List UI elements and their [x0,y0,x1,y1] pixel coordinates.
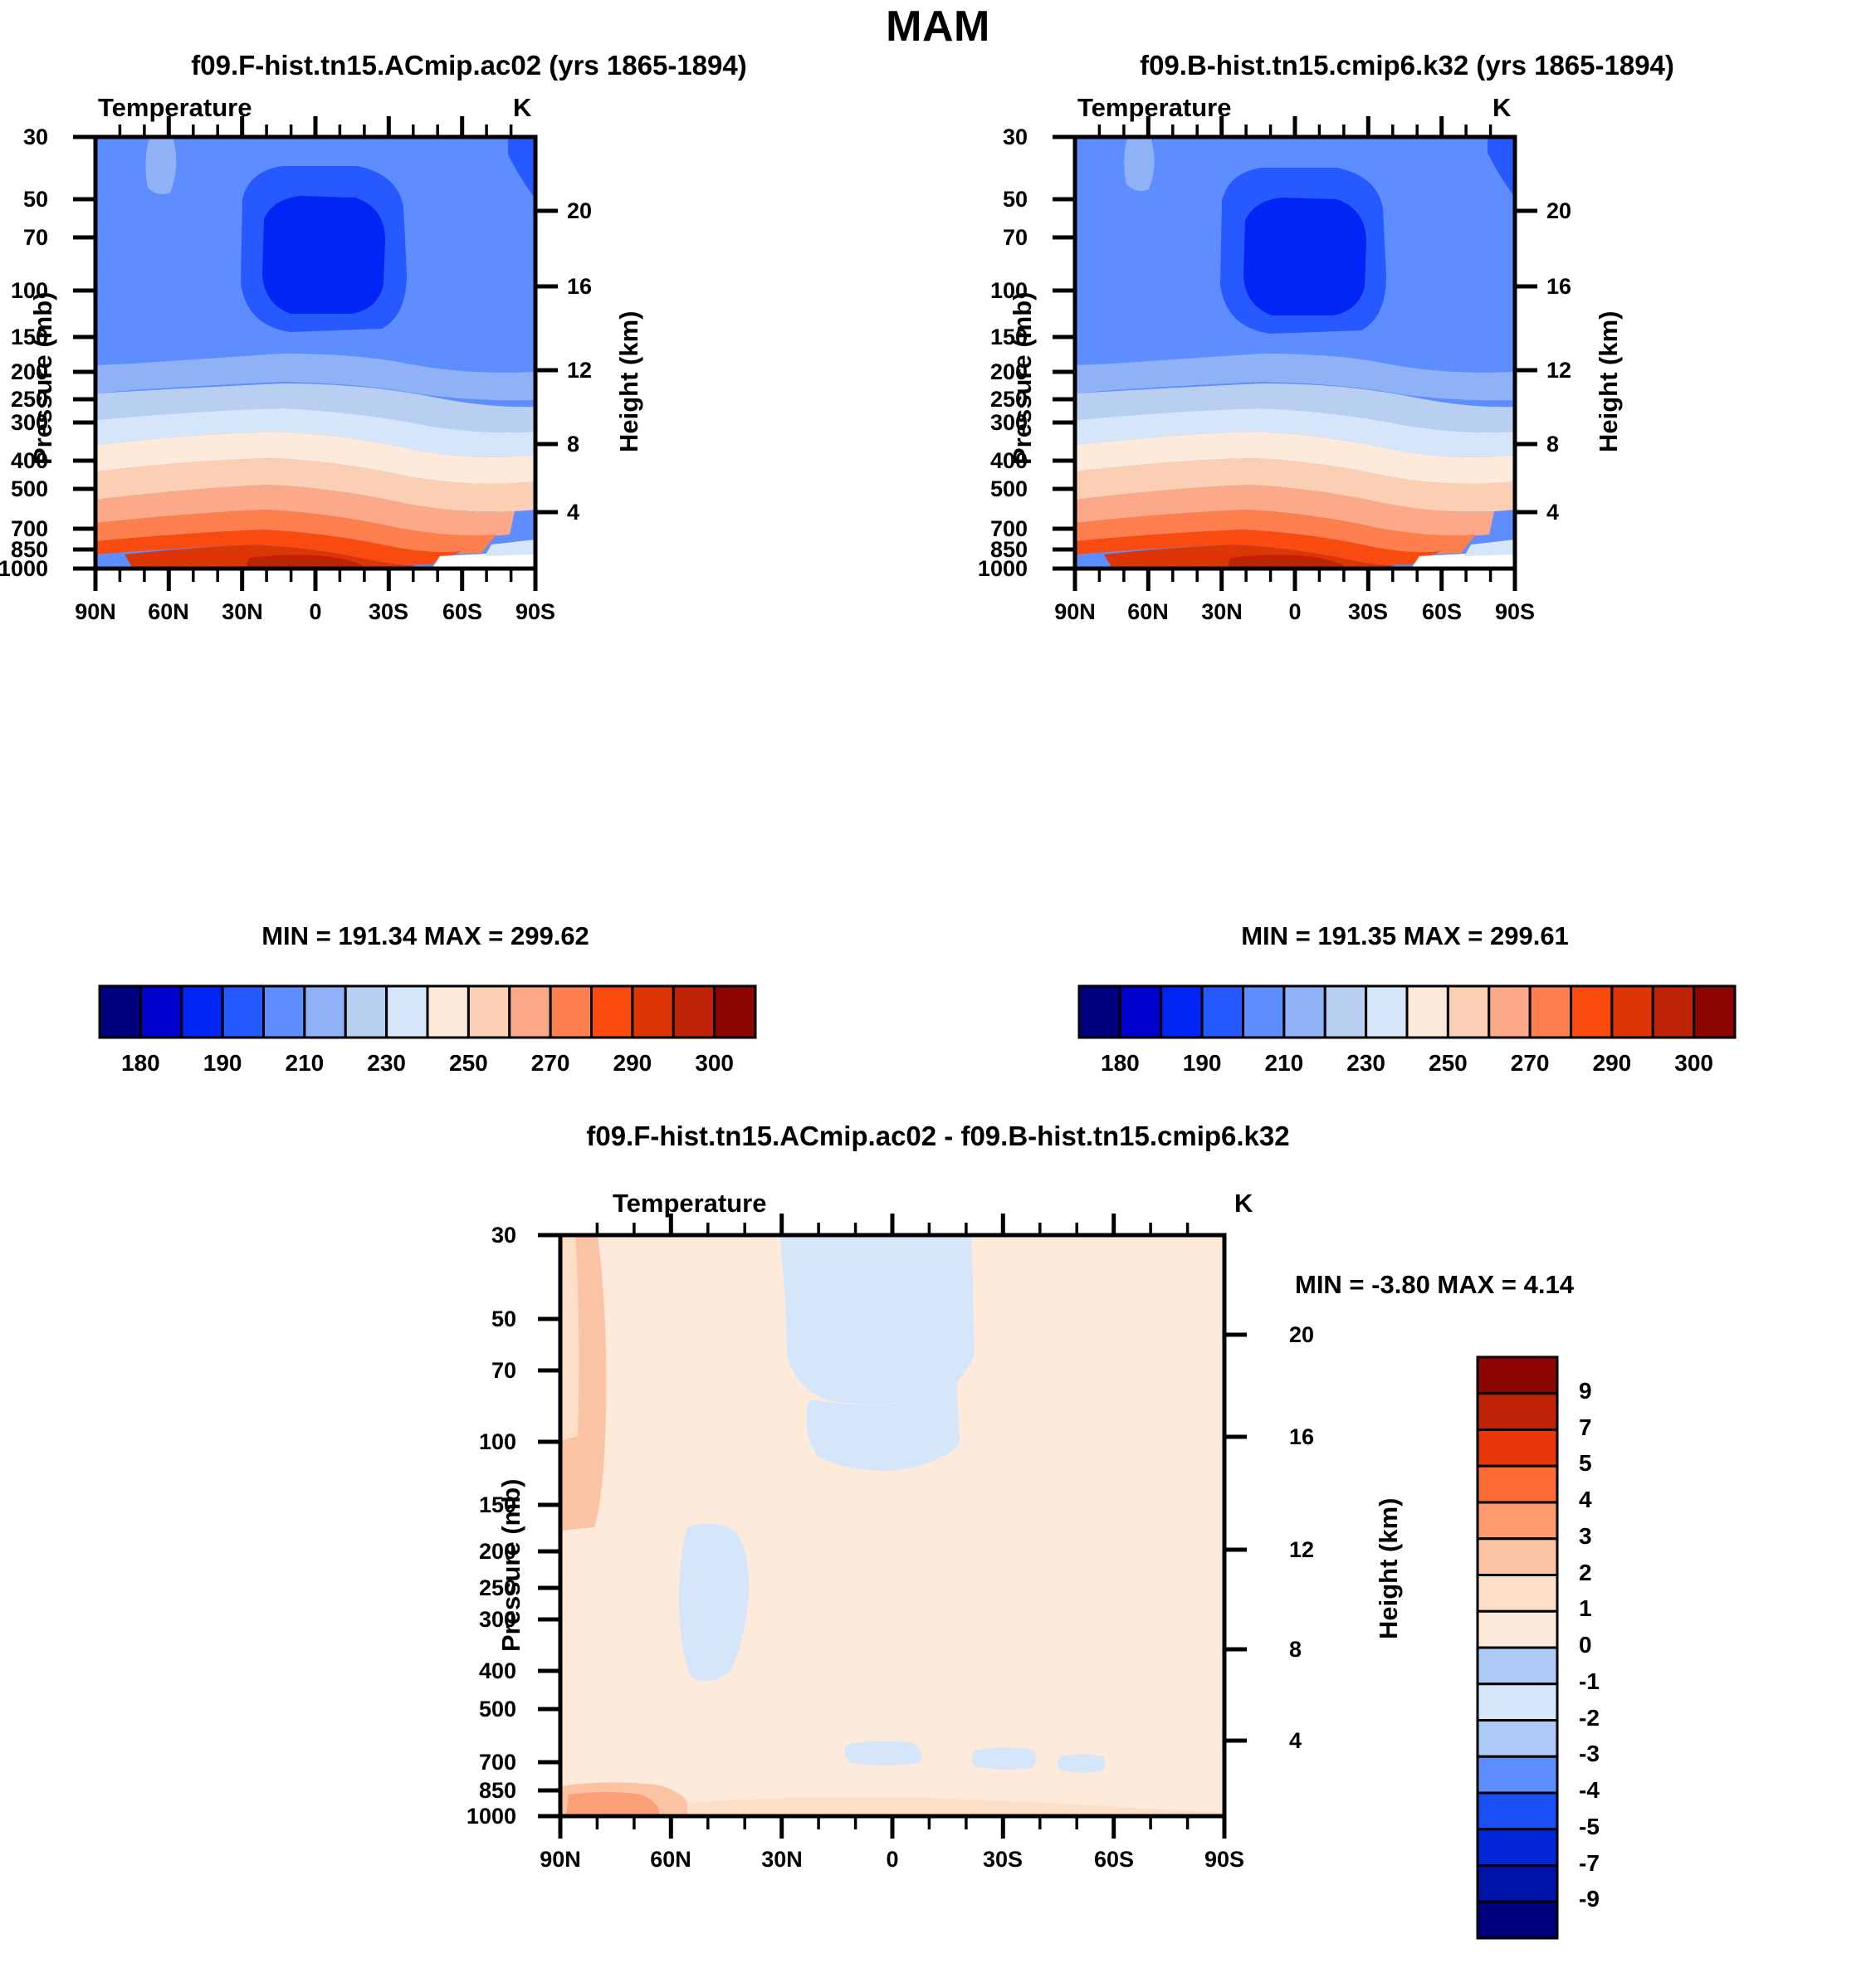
colorbar-swatch [1612,986,1653,1038]
panel-left-plot[interactable] [0,0,938,930]
colorbar-swatch [387,986,427,1038]
colorbar-swatch [1202,986,1243,1038]
colorbar-swatch [1478,1866,1557,1902]
panel-right-xticks-top [1099,116,1490,137]
colorbar-swatch [1478,1430,1557,1467]
colorbar-tick-label: 180 [1101,1050,1140,1077]
panel-right-yticks [1053,137,1075,569]
panel-diff-contour-fill [560,1235,1224,1816]
colorbar-tick-label: -4 [1579,1777,1600,1804]
colorbar-swatch [264,986,305,1038]
colorbar-swatch [510,986,550,1038]
colorbar-tick-label: 290 [613,1050,652,1077]
colorbar-swatch [1120,986,1160,1038]
colorbar-swatch [1478,1466,1557,1502]
colorbar-swatch [1478,1357,1557,1394]
panel-left-xticks-top [120,116,511,137]
colorbar-swatch [100,986,140,1038]
colorbar-tick-label: 2 [1579,1560,1592,1586]
colorbar-swatch [1478,1756,1557,1793]
colorbar-swatch [1478,1684,1557,1721]
colorbar-swatch [1243,986,1284,1038]
colorbar-swatch [715,986,755,1038]
colorbar-tick-label: 290 [1593,1050,1632,1077]
colorbar-swatch [1448,986,1488,1038]
colorbar-tick-label: 7 [1579,1414,1592,1441]
panel-left-xticks [95,569,535,591]
colorbar-tick-label: 190 [203,1050,242,1077]
colorbar-tick-label: -3 [1579,1741,1600,1767]
colorbar-swatch [305,986,345,1038]
colorbar-tick-label: 230 [1346,1050,1385,1077]
colorbar-swatch [633,986,673,1038]
colorbar-swatch [1325,986,1365,1038]
colorbar-tick-label: 0 [1579,1632,1592,1658]
colorbar-absolute-right[interactable] [980,971,1859,1054]
colorbar-tick-label: 270 [531,1050,570,1077]
panel-right-plot[interactable] [980,0,1876,930]
colorbar-swatch [1478,1829,1557,1866]
colorbar-swatch [1478,1502,1557,1539]
colorbar-swatch [427,986,468,1038]
colorbar-tick-label: 1 [1579,1595,1592,1622]
colorbar-tick-label: 3 [1579,1523,1592,1550]
colorbar-swatch [1478,1394,1557,1430]
colorbar-swatch [468,986,509,1038]
colorbar-swatch [1478,1611,1557,1648]
colorbar-tick-label: -1 [1579,1668,1600,1695]
panel-diff-xticks [560,1816,1224,1839]
colorbar-tick-label: 300 [695,1050,734,1077]
colorbar-swatch [1478,1539,1557,1575]
colorbar-tick-label: 250 [1429,1050,1468,1077]
colorbar-difference[interactable] [1469,1349,1577,1946]
colorbar-swatch [1478,1721,1557,1757]
panel-left-contour-fill [95,137,535,569]
colorbar-swatch [673,986,714,1038]
panel-diff-y2ticks [1224,1335,1247,1741]
colorbar-swatch [1161,986,1202,1038]
colorbar-swatch [1284,986,1325,1038]
colorbar-swatch [550,986,591,1038]
colorbar-tick-label: 5 [1579,1450,1592,1477]
panel-diff-xticks-top [597,1214,1187,1235]
colorbar-swatch [1478,1575,1557,1612]
colorbar-tick-label: 270 [1511,1050,1550,1077]
colorbar-tick-label: 9 [1579,1378,1592,1404]
colorbar-swatch [1478,1902,1557,1938]
colorbar-tick-label: -2 [1579,1705,1600,1731]
colorbar-tick-label: 230 [367,1050,406,1077]
panel-diff-title: f09.F-hist.tn15.ACmip.ac02 - f09.B-hist.… [0,1121,1876,1152]
colorbar-swatch [1694,986,1735,1038]
panel-right-xticks [1075,569,1515,591]
colorbar-swatch [1407,986,1448,1038]
colorbar-tick-label: -5 [1579,1814,1600,1840]
colorbar-swatch [1653,986,1693,1038]
colorbar-swatch [592,986,633,1038]
panel-diff-y2label: Height (km) [1374,1498,1404,1640]
colorbar-tick-label: -7 [1579,1850,1600,1877]
colorbar-swatch [140,986,181,1038]
panel-left-y2ticks [535,211,558,512]
colorbar-tick-label: 190 [1183,1050,1222,1077]
panel-right-y2ticks [1515,211,1537,512]
colorbar-swatch [222,986,263,1038]
colorbar-tick-label: 250 [449,1050,488,1077]
colorbar-tick-label: 210 [1265,1050,1304,1077]
colorbar-tick-label: 180 [121,1050,160,1077]
colorbar-swatch [182,986,222,1038]
colorbar-swatch [1478,1793,1557,1829]
colorbar-swatch [1478,1648,1557,1684]
colorbar-swatch [1571,986,1612,1038]
panel-right-contour-fill [1075,137,1515,569]
colorbar-swatch [345,986,386,1038]
colorbar-swatch [1079,986,1120,1038]
colorbar-absolute-left[interactable] [0,971,880,1054]
colorbar-swatch [1530,986,1571,1038]
panel-diff-plot[interactable] [465,1162,1378,1934]
panel-left-yticks [73,137,95,569]
colorbar-tick-label: 4 [1579,1487,1592,1513]
colorbar-tick-label: -9 [1579,1886,1600,1912]
panel-diff-yticks [538,1235,560,1816]
colorbar-tick-label: 210 [286,1050,325,1077]
colorbar-swatch [1489,986,1530,1038]
colorbar-swatch [1366,986,1407,1038]
colorbar-tick-label: 300 [1674,1050,1713,1077]
